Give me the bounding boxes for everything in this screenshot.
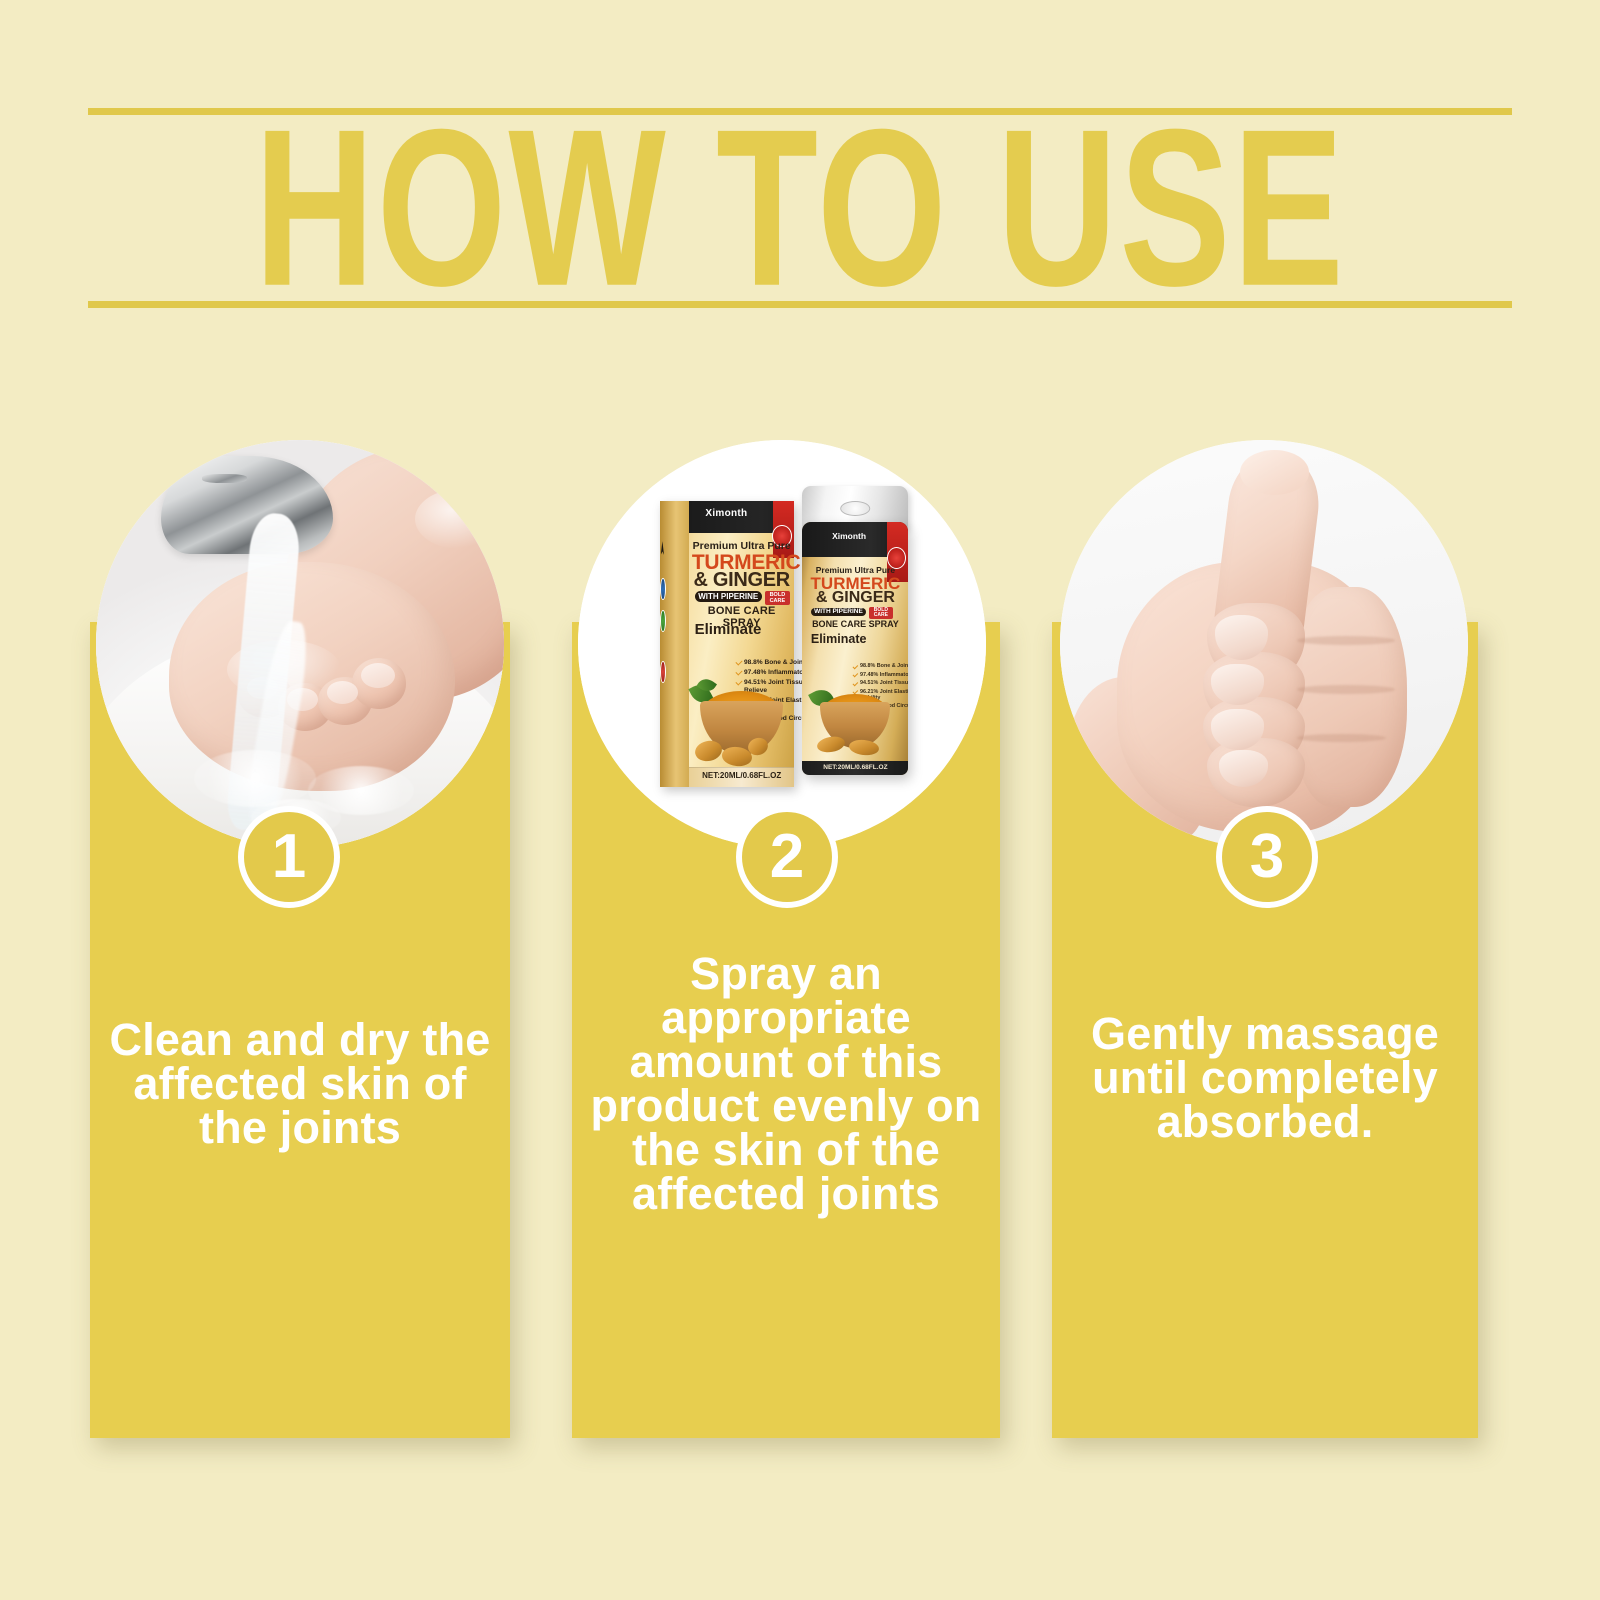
bottle-subtitle: BONE CARE SPRAY xyxy=(807,619,905,629)
step-number-badge-2: 2 xyxy=(736,806,838,908)
skin-crease xyxy=(1297,636,1395,645)
skin-crease xyxy=(1297,734,1387,742)
cap-nozzle-icon xyxy=(841,501,871,516)
product-group: Ximonth Premium Ultra Pure TURMERIC & GI… xyxy=(578,440,986,848)
step-caption-1: Clean and dry the affected skin of the j… xyxy=(104,1018,496,1150)
highlight xyxy=(415,489,504,550)
bottle-brand-logo: Ximonth xyxy=(832,531,866,541)
brand-logo: Ximonth xyxy=(705,508,747,519)
box-piperine-tag: WITH PIPERINE xyxy=(695,591,762,602)
step-image-1 xyxy=(96,440,504,848)
box-piperine-badge: BOLD CARE xyxy=(765,591,791,606)
benefit-item: 94.51% Joint Tissue Relieve xyxy=(853,681,908,687)
skin-crease xyxy=(1297,685,1395,694)
product-photo: Ximonth Premium Ultra Pure TURMERIC & GI… xyxy=(578,440,986,848)
box-spine xyxy=(660,501,690,787)
bottle-piperine-badge: BOLD CARE xyxy=(869,607,892,619)
steps-container: Clean and dry the affected skin of the j… xyxy=(0,0,1600,1600)
faucet-rim xyxy=(202,474,247,483)
box-premium-line: Premium Ultra Pure xyxy=(692,540,792,552)
badge-icon xyxy=(660,610,666,632)
ginger-root xyxy=(848,739,879,757)
spray-bottle: Ximonth Premium Ultra Pure TURMERIC & GI… xyxy=(802,522,908,775)
box-product-name-2: & GINGER xyxy=(692,571,792,589)
front-hand-shape xyxy=(169,562,455,790)
ginger-root xyxy=(816,734,846,754)
thumb-tip-shape xyxy=(1240,450,1309,495)
box-eliminate-label: Eliminate xyxy=(695,621,762,638)
step-image-2: Ximonth Premium Ultra Pure TURMERIC & GI… xyxy=(578,440,986,848)
infographic-page: HOW TO USE Clean and dry the affected sk… xyxy=(0,0,1600,1600)
benefit-item: 98.8% Bone & Joint Pain xyxy=(853,664,908,670)
bottle-piperine-tag: WITH PIPERINE xyxy=(811,608,866,616)
step-number-badge-3: 3 xyxy=(1216,806,1318,908)
fingernail-shape xyxy=(361,663,395,688)
box-net-contents: NET:20ML/0.68FL.OZ xyxy=(689,767,794,787)
step-caption-3: Gently massage until completely absorbed… xyxy=(1066,1012,1464,1144)
step-number-badge-1: 1 xyxy=(238,806,340,908)
bottle-net-contents: NET:20ML/0.68FL.OZ xyxy=(802,761,908,775)
bottle-eliminate-label: Eliminate xyxy=(811,632,867,646)
step-caption-2: Spray an appropriate amount of this prod… xyxy=(586,952,986,1217)
washing-hands-photo xyxy=(96,440,504,848)
badge-icon xyxy=(660,578,666,600)
arrow-icon xyxy=(661,541,664,570)
faucet-shape xyxy=(161,456,332,554)
bottle-product-name-2: & GINGER xyxy=(807,591,905,606)
knuckles-shape xyxy=(1293,587,1407,807)
benefit-item: 97.48% Inflammatory xyxy=(853,673,908,679)
step-image-3 xyxy=(1060,440,1468,848)
thumbs-up-photo xyxy=(1060,440,1468,848)
badge-icon xyxy=(660,661,666,683)
product-box: Ximonth Premium Ultra Pure TURMERIC & GI… xyxy=(660,501,795,787)
